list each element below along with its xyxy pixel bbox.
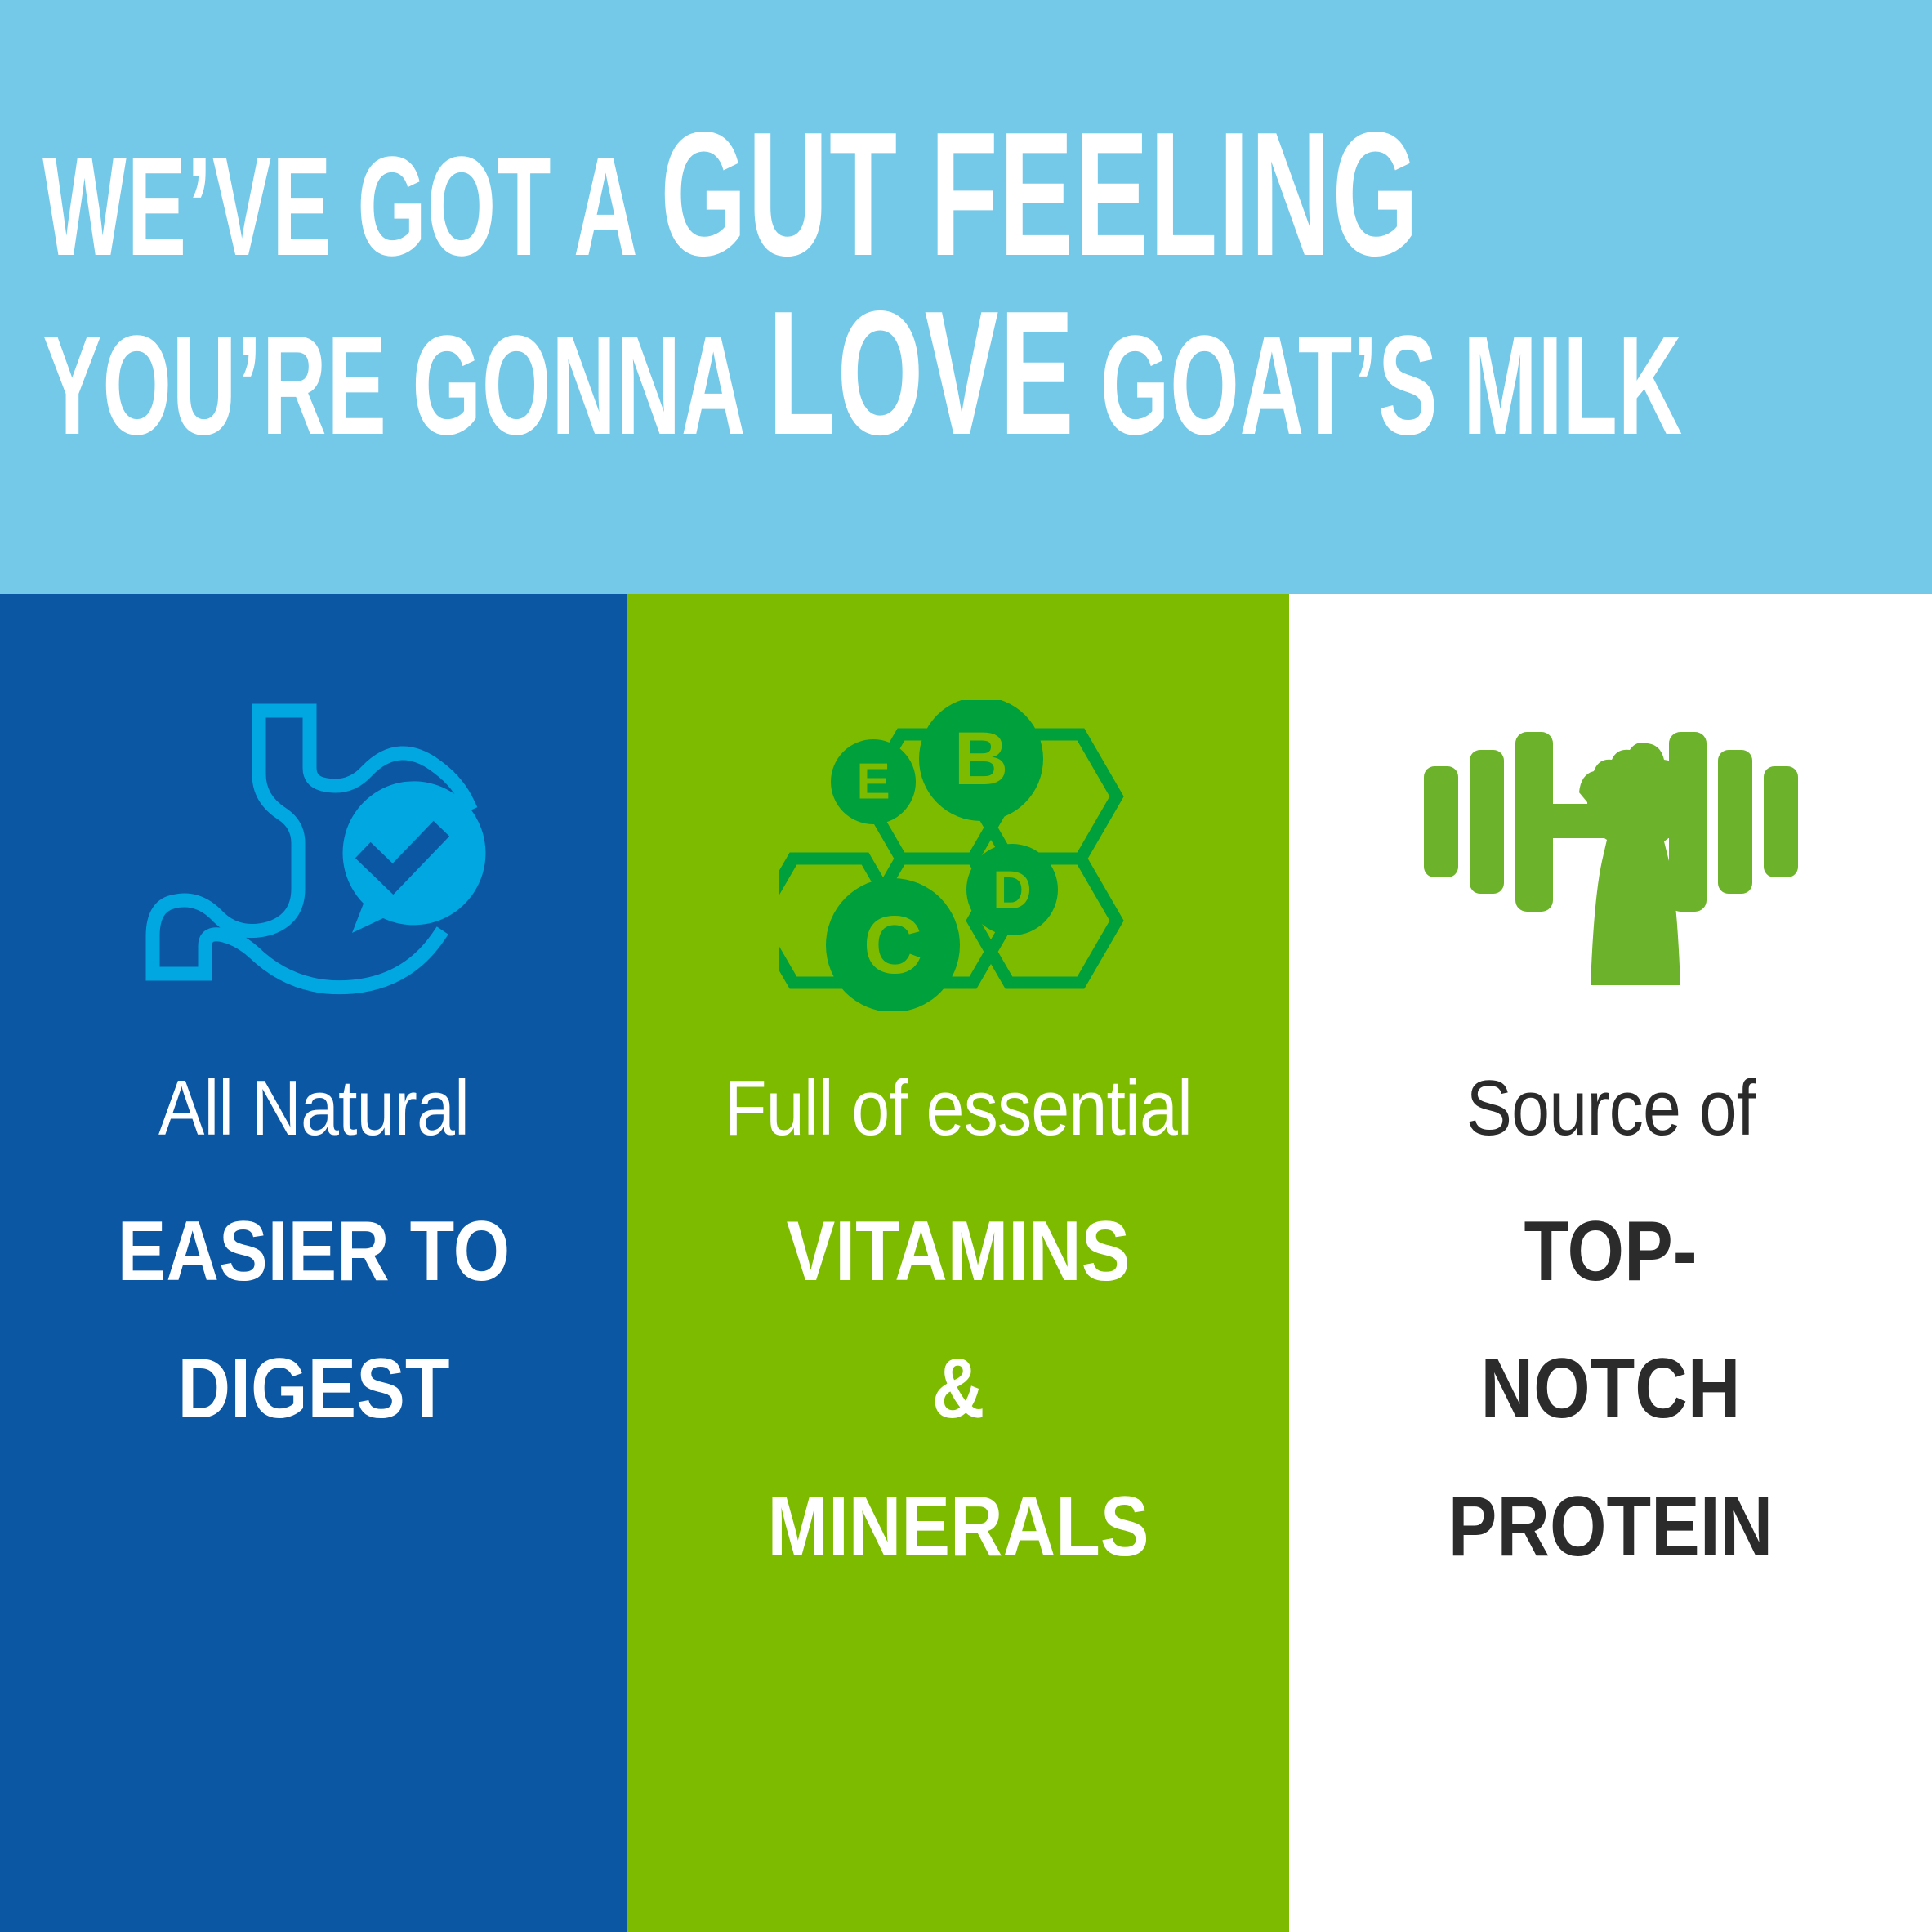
benefit-panels: All Natural EASIER TO DIGEST	[0, 594, 1932, 1932]
honeycomb-vitamins-icon-wrap: E B D C	[779, 684, 1138, 1027]
headline-line-1-emphasis: GUT FEELING	[660, 95, 1419, 292]
headline-line-2-lead: YOU’RE GONNA	[42, 306, 768, 464]
panel-digest-emphasis-line-2: DIGEST	[65, 1320, 563, 1457]
dumbbell-fist-icon-wrap	[1419, 684, 1803, 1027]
panel-digest-text: All Natural EASIER TO DIGEST	[0, 1068, 627, 1458]
vitamin-badge-E: E	[831, 739, 916, 824]
honeycomb-vitamins-icon: E B D C	[779, 700, 1138, 1011]
vitamin-label-B: B	[954, 717, 1008, 801]
vitamin-label-D: D	[993, 859, 1032, 920]
stomach-check-icon-wrap	[138, 684, 489, 1027]
panel-vitamins-emphasis-line-2: &	[695, 1320, 1222, 1457]
headline-line-1-lead: WE’VE GOT A	[42, 127, 660, 285]
vitamin-badge-D: D	[966, 844, 1058, 935]
infographic-root: WE’VE GOT A GUT FEELING YOU’RE GONNA LOV…	[0, 0, 1932, 1932]
panel-protein-lede: Source of	[1350, 1068, 1872, 1150]
panel-easier-to-digest: All Natural EASIER TO DIGEST	[0, 594, 627, 1932]
headline-banner: WE’VE GOT A GUT FEELING YOU’RE GONNA LOV…	[0, 0, 1932, 594]
panel-vitamins-emphasis-line-3: MINERALS	[695, 1458, 1222, 1595]
stomach-check-icon	[138, 696, 489, 1015]
vitamin-label-C: C	[863, 899, 922, 991]
panel-protein-emphasis-line-3: PROTEIN	[1355, 1458, 1866, 1595]
panel-protein-emphasis-line-1: TOP-	[1355, 1183, 1866, 1320]
panel-protein-emphasis: TOP- NOTCH PROTEIN	[1355, 1183, 1866, 1595]
panel-top-notch-protein: Source of TOP- NOTCH PROTEIN	[1289, 594, 1932, 1932]
panel-vitamins-emphasis-line-1: VITAMINS	[695, 1183, 1222, 1320]
vitamin-badge-C: C	[826, 878, 960, 1011]
headline-text: WE’VE GOT A GUT FEELING YOU’RE GONNA LOV…	[42, 114, 1897, 452]
vitamin-label-E: E	[856, 754, 890, 810]
vitamin-badge-B: B	[919, 700, 1043, 821]
panel-vitamins-lede: Full of essential	[689, 1068, 1228, 1150]
headline-line-2-tail: GOAT’S MILK	[1075, 306, 1683, 464]
panel-protein-text: Source of TOP- NOTCH PROTEIN	[1289, 1068, 1932, 1595]
dumbbell-fist-icon	[1419, 721, 1803, 990]
panel-digest-lede: All Natural	[59, 1068, 568, 1150]
panel-protein-emphasis-line-2: NOTCH	[1355, 1320, 1866, 1457]
panel-vitamins-text: Full of essential VITAMINS & MINERALS	[627, 1068, 1289, 1595]
headline-line-2: YOU’RE GONNA LOVE GOAT’S MILK	[42, 293, 1211, 453]
panel-digest-emphasis-line-1: EASIER TO	[65, 1183, 563, 1320]
panel-digest-emphasis: EASIER TO DIGEST	[65, 1183, 563, 1458]
headline-line-1: WE’VE GOT A GUT FEELING	[42, 114, 1211, 274]
panel-vitamins-emphasis: VITAMINS & MINERALS	[695, 1183, 1222, 1595]
headline-line-2-emphasis: LOVE	[768, 274, 1075, 471]
panel-vitamins-minerals: E B D C Full of e	[627, 594, 1289, 1932]
